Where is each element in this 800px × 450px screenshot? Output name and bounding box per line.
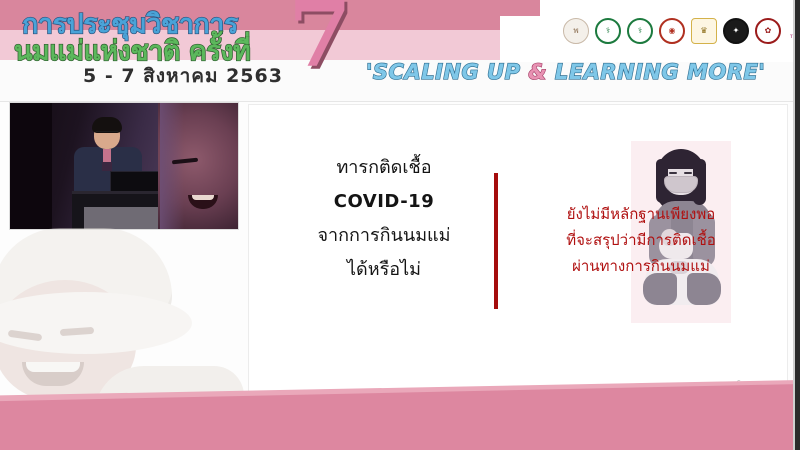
illustration-hair-front (662, 153, 700, 169)
logo-glyph: ◉ (669, 27, 676, 35)
slide-content-panel: ทารกติดเชื้อ COVID-19 จากการกินนมแม่ ได้… (248, 104, 788, 400)
question-line-4: ได้หรือไม่ (273, 253, 495, 287)
royal-thai-emblem-logo-icon: ♛ (691, 18, 717, 44)
royal-patronage-emblem-icon: พ (563, 18, 589, 44)
window-frame-right-edge (795, 0, 800, 450)
speaker-tie-knot (102, 162, 112, 171)
question-line-1: ทารกติดเชื้อ (273, 151, 495, 185)
watermark-hat-brim (0, 292, 192, 354)
question-line-2: COVID-19 (273, 185, 495, 219)
conference-tagline: 'SCALING UP & LEARNING MORE' (366, 60, 765, 84)
tagline-ampersand: & (528, 60, 547, 84)
screen-baby-shadow (160, 103, 184, 229)
logo-glyph: พ (573, 27, 578, 35)
face-mask-icon (664, 176, 698, 193)
thai-red-emblem-logo-icon: ✿ (755, 18, 781, 44)
child-watermark-image (0, 228, 256, 413)
answer-line-2: ที่จะสรุปว่ามีการติดเชื้อ (507, 227, 775, 253)
answer-line-1: ยังไม่มีหลักฐานเพียงพอ (507, 201, 775, 227)
slide-question-text: ทารกติดเชื้อ COVID-19 จากการกินนมแม่ ได้… (273, 151, 495, 287)
illustration-right-eye (684, 172, 692, 174)
organiser-logo-strip: พ ⚕ ⚕ ◉ ♛ ✦ ✿ สสส Thai Health (563, 18, 800, 44)
slide-screen: การประชุมวิชาการ นมแม่แห่งชาติ ครั้งที่ … (0, 0, 800, 450)
question-line-3: จากการกินนมแม่ (273, 219, 495, 253)
logo-glyph: ✦ (733, 27, 740, 35)
logo-glyph: ♛ (700, 27, 707, 35)
logo-glyph: ✿ (765, 27, 772, 35)
slide-answer-text: ยังไม่มีหลักฐานเพียงพอ ที่จะสรุปว่ามีการ… (507, 201, 775, 279)
speaker-glasses-icon (96, 131, 118, 136)
header-divider (0, 101, 800, 102)
watermark-teeth (26, 362, 80, 372)
department-of-health-logo-icon: ⚕ (627, 18, 653, 44)
logo-glyph: ⚕ (606, 27, 610, 35)
conference-dates: 5 - 7 สิงหาคม 2563 (83, 61, 283, 91)
ministry-of-public-health-logo-icon: ⚕ (595, 18, 621, 44)
speaker-video-thumbnail[interactable] (10, 103, 238, 229)
screen-baby-teeth (192, 195, 214, 200)
stage-dark-panel (10, 103, 52, 229)
tagline-part2: LEARNING MORE' (547, 60, 765, 84)
thai-breastfeeding-centre-logo-icon: ◉ (659, 18, 685, 44)
national-health-foundation-logo-icon: ✦ (723, 18, 749, 44)
illustration-left-eye (669, 172, 677, 174)
logo-glyph: ⚕ (638, 27, 642, 35)
tagline-part1: 'SCALING UP (366, 60, 528, 84)
conference-edition-number: 7 (288, 0, 352, 80)
answer-line-3: ผ่านทางการกินนมแม่ (507, 253, 775, 279)
slide-vertical-divider (494, 173, 498, 309)
